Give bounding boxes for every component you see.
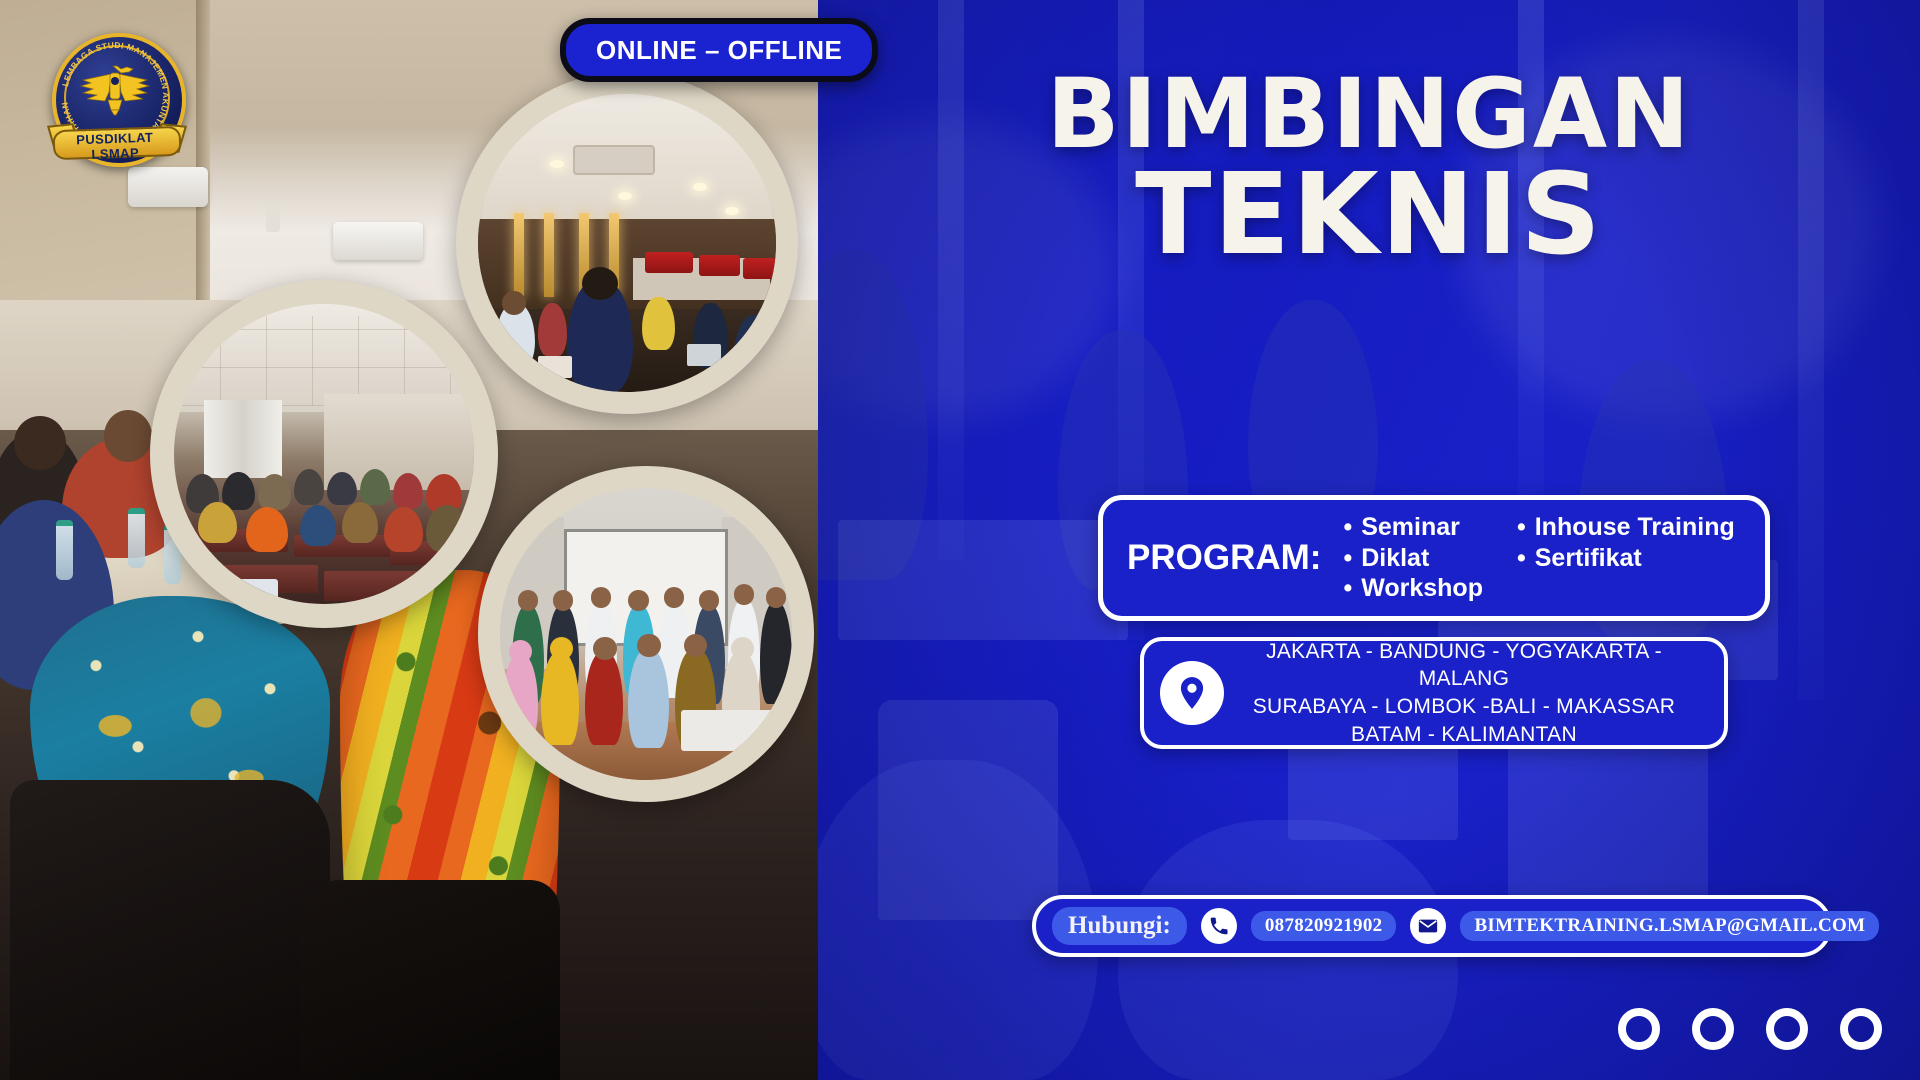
online-offline-label: ONLINE – OFFLINE <box>596 35 842 66</box>
photo-circle-audience-hall <box>150 280 498 628</box>
locations-line-1: JAKARTA - BANDUNG - YOGYAKARTA - MALANG <box>1224 638 1704 693</box>
program-item: Diklat <box>1343 543 1483 574</box>
social-circle-icon[interactable] <box>1618 1008 1660 1050</box>
program-label: PROGRAM: <box>1127 538 1321 578</box>
garuda-emblem-icon <box>75 60 155 116</box>
phone-number[interactable]: 087820921902 <box>1251 911 1397 941</box>
person-head <box>104 410 152 462</box>
pusdiklat-lsmap-logo: LEMBAGA STUDI MANAJEMEN AKUNTANSI DAN PE… <box>45 28 185 168</box>
contact-label: Hubungi: <box>1052 907 1187 945</box>
chair-silhouette <box>300 880 560 1080</box>
program-column-2: Inhouse Training Sertifikat <box>1517 512 1735 604</box>
program-box: PROGRAM: Seminar Diklat Workshop Inhouse… <box>1098 495 1770 621</box>
program-item: Workshop <box>1343 573 1483 604</box>
social-circle-icon[interactable] <box>1692 1008 1734 1050</box>
phone-icon <box>1201 908 1237 944</box>
water-bottle <box>56 520 73 580</box>
social-circle-icon[interactable] <box>1840 1008 1882 1050</box>
envelope-icon <box>1410 908 1446 944</box>
program-item: Sertifikat <box>1517 543 1735 574</box>
locations-line-2: SURABAYA - LOMBOK -BALI - MAKASSAR <box>1224 693 1704 721</box>
program-item: Inhouse Training <box>1517 512 1735 543</box>
program-column-1: Seminar Diklat Workshop <box>1343 512 1483 604</box>
person-head <box>14 416 66 470</box>
contact-bar: Hubungi: 087820921902 BIMTEKTRAINING.LSM… <box>1032 895 1832 957</box>
social-icons-row <box>1618 1008 1882 1050</box>
program-item: Seminar <box>1343 512 1483 543</box>
promotional-poster: LEMBAGA STUDI MANAJEMEN AKUNTANSI DAN PE… <box>0 0 1920 1080</box>
photo-circle-training-room <box>456 72 798 414</box>
air-conditioner-unit <box>128 167 208 207</box>
social-circle-icon[interactable] <box>1766 1008 1808 1050</box>
logo-banner: PUSDIKLAT LSMAP <box>45 120 185 162</box>
photo-circle-group-photo <box>478 466 814 802</box>
locations-box: JAKARTA - BANDUNG - YOGYAKARTA - MALANG … <box>1140 637 1728 749</box>
title-line-1: BIMBINGAN <box>818 70 1920 158</box>
locations-lines: JAKARTA - BANDUNG - YOGYAKARTA - MALANG … <box>1224 638 1724 749</box>
map-pin-icon <box>1160 661 1224 725</box>
email-address[interactable]: BIMTEKTRAINING.LSMAP@GMAIL.COM <box>1460 911 1879 941</box>
title-line-2: TEKNIS <box>818 164 1920 267</box>
air-conditioner-unit <box>333 222 423 260</box>
logo-banner-label: PUSDIKLAT LSMAP <box>53 129 178 163</box>
wall-sensor <box>266 204 280 232</box>
water-bottle <box>128 508 145 568</box>
background-table <box>838 520 1128 640</box>
page-title: BIMBINGAN TEKNIS <box>818 70 1920 267</box>
program-columns: Seminar Diklat Workshop Inhouse Training… <box>1343 512 1734 604</box>
locations-line-3: BATAM - KALIMANTAN <box>1224 721 1704 749</box>
chair-silhouette <box>10 780 330 1080</box>
